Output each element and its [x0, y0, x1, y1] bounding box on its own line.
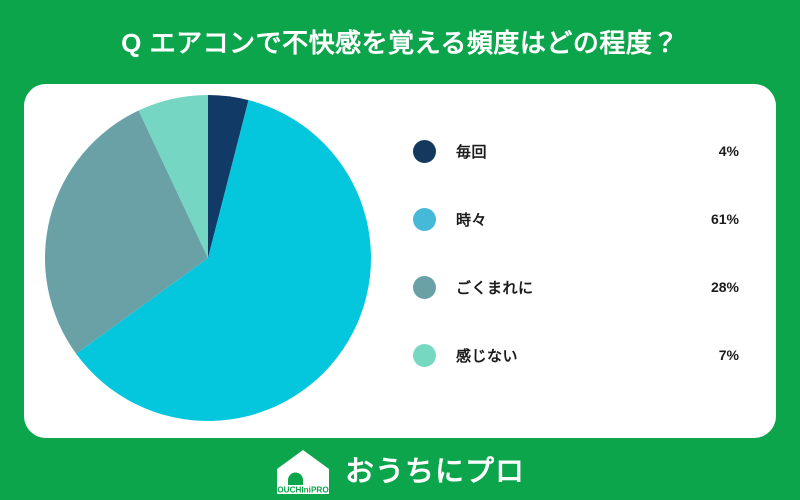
pie-chart-svg: [45, 95, 371, 421]
legend-item-0: 毎回 4%: [413, 134, 751, 168]
house-logo-svg: OUCHIniPRO: [275, 449, 331, 495]
legend-value-1: 61%: [711, 211, 751, 227]
brand-footer: OUCHIniPRO おうちにプロ: [0, 446, 800, 498]
legend-value-0: 4%: [719, 143, 751, 159]
legend-item-3: 感じない 7%: [413, 338, 751, 372]
legend-item-1: 時々 61%: [413, 202, 751, 236]
question-title-text: Q エアコンで不快感を覚える頻度はどの程度？: [121, 30, 679, 56]
content-card: 毎回 4% 時々 61% ごくまれに 28% 感じない 7%: [24, 84, 776, 438]
infographic-root: Q エアコンで不快感を覚える頻度はどの程度？ 毎回 4% 時々 61%: [0, 0, 800, 500]
legend-color-swatch-3: [413, 344, 436, 367]
legend-color-swatch-0: [413, 140, 436, 163]
legend-label-1: 時々: [456, 209, 487, 230]
legend-label-0: 毎回: [456, 141, 487, 162]
legend-color-swatch-1: [413, 208, 436, 231]
logo-mark-text: OUCHIniPRO: [277, 485, 329, 494]
page-title: Q エアコンで不快感を覚える頻度はどの程度？: [0, 14, 800, 72]
legend-color-swatch-2: [413, 276, 436, 299]
legend-item-2: ごくまれに 28%: [413, 270, 751, 304]
legend-value-3: 7%: [719, 347, 751, 363]
pie-chart: [45, 95, 371, 421]
chart-legend: 毎回 4% 時々 61% ごくまれに 28% 感じない 7%: [413, 104, 751, 418]
legend-label-3: 感じない: [456, 345, 518, 366]
brand-name-text: おうちにプロ: [345, 458, 525, 487]
legend-label-2: ごくまれに: [456, 277, 534, 298]
legend-value-2: 28%: [711, 279, 751, 295]
house-logo-icon: OUCHIniPRO: [275, 449, 331, 495]
